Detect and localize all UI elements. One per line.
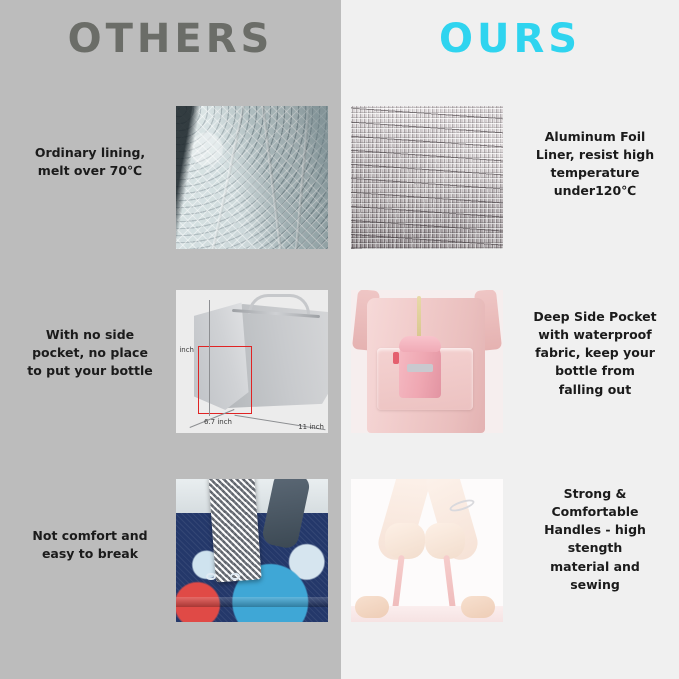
aluminum-foil-liner-photo [351, 106, 503, 249]
row-3-others-caption: Not comfort and easy to break [6, 527, 174, 563]
navy-bag-woven-strap-photo [176, 479, 328, 622]
row-2-others-caption: With no side pocket, no place to put you… [6, 326, 174, 380]
row-2-ours-caption: Deep Side Pocket with waterproof fabric,… [514, 308, 676, 399]
row-3-ours-caption: Strong & Comfortable Handles - high sten… [514, 485, 676, 594]
diagram-depth-label: 6.7 inch [204, 418, 232, 426]
others-heading: OTHERS [0, 16, 341, 62]
header-row: OTHERS OURS [0, 0, 679, 92]
side-pocket-highlight-rect [198, 346, 252, 414]
ours-heading: OURS [341, 16, 679, 62]
comparison-row-1: Ordinary lining, melt over 70℃ Aluminum … [0, 106, 679, 249]
comparison-infographic: OTHERS OURS Ordinary lining, melt over 7… [0, 0, 679, 679]
diagram-height-label: inch [179, 346, 194, 354]
row-1-ours-caption: Aluminum Foil Liner, resist high tempera… [514, 128, 676, 201]
quilted-gray-lining-photo [176, 106, 328, 249]
diagram-width-label: 11 inch [298, 423, 324, 431]
row-1-others-caption: Ordinary lining, melt over 70℃ [6, 144, 174, 180]
hands-pulling-pink-handles-photo [351, 479, 503, 622]
comparison-row-3: Not comfort and easy to break [0, 479, 679, 622]
pink-bag-side-pocket-photo [351, 290, 503, 433]
comparison-row-2: With no side pocket, no place to put you… [0, 290, 679, 433]
gray-bag-dimension-diagram: 11 inch 6.7 inch inch [176, 290, 328, 433]
